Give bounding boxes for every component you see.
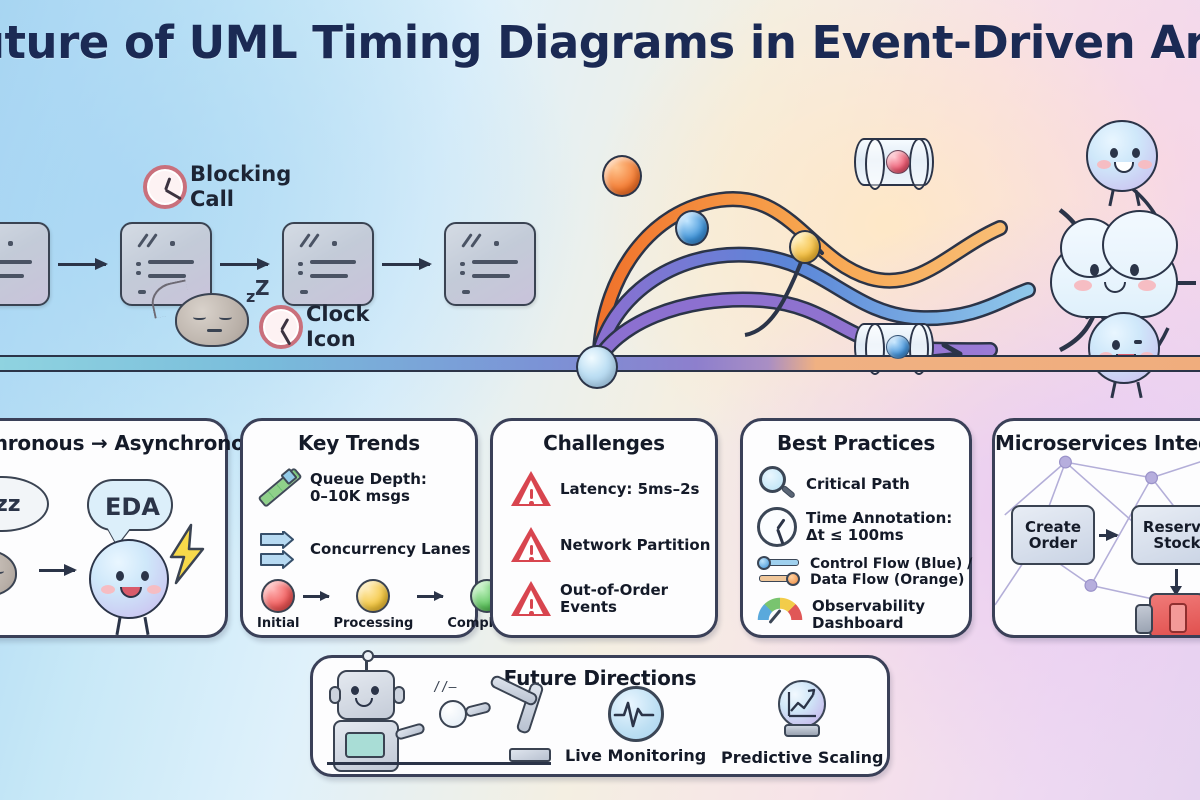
predictive-scaling-label: Predictive Scaling: [721, 748, 884, 767]
msvc-step-reserve-stock[interactable]: Reserve Stock: [1131, 505, 1200, 565]
code-block-4: [444, 222, 536, 306]
clock-icon-label-line2: Icon: [306, 328, 356, 352]
lightning-bolt-icon: [165, 523, 211, 587]
bp-row-time-annotation: Time Annotation: Δt ≤ 100ms: [757, 507, 971, 547]
cloud-smile: [1104, 282, 1126, 293]
code-block-3: [282, 222, 374, 306]
challenge-network-label: Network Partition: [560, 537, 710, 554]
live-monitoring-icon: [608, 686, 664, 742]
sleep-z-large: Z: [255, 276, 270, 300]
code-sparkle-icon: //–: [433, 680, 456, 695]
event-streams-illustration: [560, 100, 1200, 390]
concurrency-lanes-label: Concurrency Lanes: [310, 541, 471, 558]
sleeping-blob-icon-card: [0, 549, 17, 597]
state-label-initial: Initial: [257, 616, 299, 631]
card-key-trends-title: Key Trends: [243, 431, 475, 455]
clock-icon-blocking: [143, 165, 187, 209]
state-arrow-1: [303, 595, 329, 598]
future-item-live-monitoring[interactable]: Live Monitoring: [565, 686, 706, 765]
card-challenges-title: Challenges: [493, 431, 715, 455]
bp-critical-path-label: Critical Path: [806, 476, 910, 493]
speech-bubble-eda: EDA: [87, 479, 173, 531]
queue-message-red: [886, 150, 910, 174]
state-dot-initial: [261, 579, 295, 613]
card-key-trends[interactable]: Key Trends Queue Depth: 0–10K msgs Concu…: [240, 418, 478, 638]
code-block-1: [0, 222, 50, 306]
live-monitoring-label: Live Monitoring: [565, 746, 706, 765]
warning-triangle-icon-3: [511, 581, 551, 617]
msvc-step1-line1: Create: [1025, 519, 1081, 535]
transition-arrow: [39, 569, 75, 572]
queue-depth-line1: Queue Depth:: [310, 471, 427, 488]
bp-flows-line1: Control Flow (Blue) /: [810, 557, 972, 573]
cloud-icon: [1050, 240, 1178, 318]
timeline-node: [576, 345, 618, 389]
queue-depth-line2: 0–10K msgs: [310, 488, 427, 505]
challenge-ooo-line2: Events: [560, 599, 668, 616]
queue-cylinder-top: [854, 138, 934, 186]
stream-orb-blue: [675, 210, 709, 246]
bp-observability-line1: Observability: [812, 598, 925, 615]
cloud-blush-right: [1138, 280, 1156, 291]
challenge-row-ooo: Out-of-Order Events: [511, 581, 711, 617]
cloud-blush-left: [1074, 280, 1092, 291]
flow-arrow-3: [382, 263, 430, 266]
magnifier-icon: [757, 465, 797, 503]
state-arrow-2: [417, 595, 443, 598]
card-best-practices-title: Best Practices: [743, 431, 969, 455]
challenge-row-latency: Latency: 5ms–2s: [511, 471, 711, 507]
bp-flows-line2: Data Flow (Orange): [810, 573, 972, 589]
bp-row-critical-path: Critical Path: [757, 465, 969, 503]
page-title: Future of UML Timing Diagrams in Event-D…: [0, 16, 1200, 69]
robot-ground-line: [327, 762, 551, 765]
eda-text: EDA: [105, 493, 160, 521]
card-sync-async-title: Synchronous → Asynchronous: [0, 431, 225, 455]
character-waving: [1086, 120, 1158, 192]
robotic-arm-gripper: [464, 701, 492, 718]
flow-arrow-1: [58, 263, 106, 266]
state-dot-processing: [356, 579, 390, 613]
card-future-directions[interactable]: Future Directions //– Liv: [310, 655, 890, 777]
character-winking: [1088, 312, 1160, 384]
msvc-step-create-order[interactable]: Create Order: [1011, 505, 1095, 565]
queue-depth-bar-icon: [259, 467, 301, 509]
warning-triangle-icon-2: [511, 527, 551, 563]
cloud-eye-left: [1090, 264, 1099, 276]
msvc-step2-line2: Stock: [1143, 535, 1200, 551]
card-challenges[interactable]: Challenges Latency: 5ms–2s Network Parti…: [490, 418, 718, 638]
zzz-text: Zzz: [0, 492, 21, 517]
blocking-call-label-line2: Call: [190, 188, 234, 212]
state-transition-group: Initial Processing Completed: [257, 579, 526, 631]
infographic-canvas: Future of UML Timing Diagrams in Event-D…: [0, 0, 1200, 800]
queue-message-blue: [886, 335, 910, 359]
bp-time-annotation-line2: Δt ≤ 100ms: [806, 527, 952, 544]
cloud-eye-right: [1130, 264, 1139, 276]
challenge-ooo-line1: Out-of-Order: [560, 582, 668, 599]
clock-icon-labelled: [259, 305, 303, 349]
clock-icon-label-line1: Clock: [306, 303, 369, 327]
msvc-arrow-1: [1099, 534, 1117, 537]
predictive-scaling-icon: [774, 680, 830, 742]
warning-triangle-icon-1: [511, 471, 551, 507]
bp-row-flows: Control Flow (Blue) / Data Flow (Orange): [757, 555, 973, 591]
stream-orb-orange: [602, 155, 642, 197]
molecule-node-icon: [439, 700, 467, 728]
bp-row-observability: Observability Dashboard: [757, 597, 969, 633]
concurrency-lanes-icon: [259, 531, 301, 567]
key-trend-row-queue-depth: Queue Depth: 0–10K msgs: [259, 467, 469, 509]
thought-bubble-zzz: Zzz: [0, 476, 49, 532]
msvc-step2-line1: Reserve: [1143, 519, 1200, 535]
msvc-down-arrow: [1175, 569, 1178, 587]
blocking-call-label-line1: Blocking: [190, 163, 291, 187]
challenge-row-network: Network Partition: [511, 527, 711, 563]
robotic-arm-base: [509, 748, 551, 762]
bp-observability-line2: Dashboard: [812, 615, 925, 632]
happy-character-icon: [89, 539, 169, 619]
challenge-latency-label: Latency: 5ms–2s: [560, 481, 699, 498]
future-item-predictive-scaling[interactable]: Predictive Scaling: [721, 680, 884, 767]
card-microservices-title: Microservices Integration: [995, 431, 1200, 455]
card-best-practices[interactable]: Best Practices Critical Path Time Annota…: [740, 418, 972, 638]
bp-time-annotation-line1: Time Annotation:: [806, 510, 952, 527]
sleeping-blob-icon: [175, 293, 249, 347]
ai-robot-icon: [327, 654, 447, 778]
state-label-processing: Processing: [333, 616, 413, 631]
flow-lines-icon: [757, 555, 801, 591]
gauge-icon: [757, 597, 803, 633]
card-sync-async[interactable]: Synchronous → Asynchronous Zzz EDA: [0, 418, 228, 638]
sleep-z-small: z: [246, 287, 255, 306]
card-microservices[interactable]: Microservices Integration Create Order R…: [992, 418, 1200, 638]
key-trend-row-concurrency: Concurrency Lanes: [259, 531, 473, 567]
clock-icon: [757, 507, 797, 547]
flow-arrow-2: [220, 263, 268, 266]
database-icon: [1149, 593, 1200, 638]
msvc-step1-line2: Order: [1025, 535, 1081, 551]
stream-orb-yellow: [789, 230, 821, 264]
